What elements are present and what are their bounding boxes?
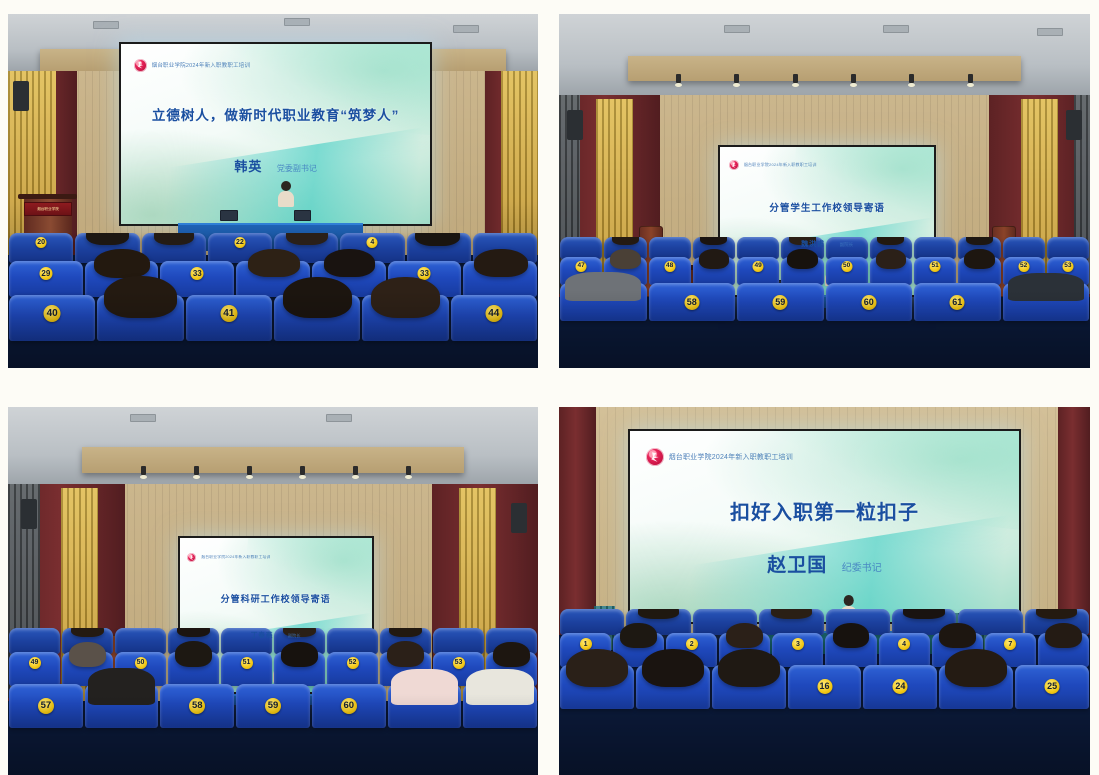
attendee-head — [389, 628, 422, 637]
seat: 60 — [826, 283, 913, 321]
seat — [560, 665, 634, 709]
attendee-head — [474, 249, 529, 278]
attendee-head — [1036, 609, 1077, 618]
seat — [1003, 237, 1045, 259]
attendee-torso — [88, 668, 156, 705]
wall-speaker-left — [567, 110, 583, 140]
ceiling-spotlight — [247, 466, 252, 475]
seat-number-tag: 52 — [347, 657, 359, 669]
seat-number-tag: 59 — [773, 295, 788, 310]
slide-byline: 韩英 党委副书记 — [121, 156, 430, 176]
attendee-head — [964, 249, 994, 269]
seat-number-tag: 53 — [453, 657, 465, 669]
attendee-head — [612, 237, 639, 245]
seat-number-tag: 49 — [29, 657, 41, 669]
seat: 58 — [160, 684, 234, 728]
slide-presenter-role: 纪委书记 — [842, 563, 882, 574]
seat — [463, 684, 537, 728]
ceiling-spotlight — [194, 466, 199, 475]
seat — [9, 628, 60, 654]
seat-row: 58 59 60 61 — [559, 283, 1090, 321]
attendee-head — [104, 276, 177, 318]
seat: 51 — [221, 652, 272, 686]
seat-number-tag: 4 — [367, 237, 378, 248]
seat — [560, 283, 647, 321]
seat — [781, 257, 823, 285]
attendee-head — [787, 249, 817, 269]
seat: 51 — [914, 257, 956, 285]
seat: 44 — [451, 295, 537, 341]
seat-number-tag: 51 — [930, 261, 941, 272]
seat-number-tag: 60 — [341, 698, 357, 714]
seat — [870, 257, 912, 285]
ceiling-vent — [724, 25, 750, 33]
slide-presenter-role: 副院长 — [288, 633, 301, 638]
seat — [142, 233, 206, 263]
wall-speaker-left — [13, 81, 29, 111]
seat: 49 — [737, 257, 779, 285]
seat — [939, 665, 1013, 709]
school-emblem-icon — [134, 59, 147, 72]
seat — [825, 633, 876, 667]
seat: 40 — [9, 295, 95, 341]
seat: 41 — [186, 295, 272, 341]
attendee-head — [638, 609, 679, 618]
seat-row: 29 33 33 — [8, 261, 538, 297]
seat: 50 — [826, 257, 868, 285]
attendee-head — [175, 641, 212, 667]
seat — [560, 237, 602, 259]
attendee-head — [726, 623, 763, 649]
seat-number-tag: 61 — [950, 295, 965, 310]
seat-number-tag: 29 — [39, 267, 52, 280]
photo-item-4[interactable]: 烟台职业学院2024年新入职教职工培训 扣好入职第一粒扣子 赵卫国 纪委书记 — [559, 407, 1090, 775]
seat-number-tag: 20 — [36, 237, 47, 248]
seat-row: 57 58 59 60 — [8, 684, 538, 728]
attendee-head — [387, 641, 424, 667]
stage-curtain-right — [501, 71, 538, 255]
presenter-head — [281, 181, 291, 191]
slide-org-text: 烟台职业学院2024年新入职教职工培训 — [669, 452, 793, 462]
slide-header: 烟台职业学院2024年新入职教职工培训 — [646, 448, 1004, 466]
auditorium-scene-3: 烟台职业学院 烟台职业学院2024年新入职教职工培训 分管科研工作校领导寄语 丁… — [8, 407, 538, 775]
wall-speaker-right — [1066, 110, 1082, 140]
ceiling-spotlight — [300, 466, 305, 475]
slide-title: 分管学生工作校领导寄语 — [720, 200, 934, 214]
attendee-head — [620, 623, 657, 648]
seat: 60 — [312, 684, 386, 728]
seat — [1038, 633, 1089, 667]
auditorium-scene-4: 烟台职业学院2024年新入职教职工培训 扣好入职第一粒扣子 赵卫国 纪委书记 — [559, 407, 1090, 775]
seat-number-tag: 16 — [817, 679, 832, 694]
seat — [274, 295, 360, 341]
podium-top — [18, 194, 77, 199]
slide-presenter-name: 魏洪甫 — [801, 241, 825, 248]
ceiling-vent — [130, 414, 156, 422]
laptop — [294, 210, 311, 221]
seat-number-tag: 53 — [1062, 261, 1073, 272]
podium-sign: 烟台职业学院 — [24, 202, 72, 217]
ceiling-spotlight — [909, 74, 914, 83]
attendee-torso — [1008, 273, 1084, 301]
ceiling-vent — [326, 414, 352, 422]
seat — [362, 295, 448, 341]
seat-number-tag: 48 — [664, 261, 675, 272]
seat-number-tag: 41 — [220, 305, 237, 322]
seat — [407, 233, 471, 263]
seat-number-tag: 52 — [1018, 261, 1029, 272]
slide-presenter-name: 韩英 — [234, 159, 262, 174]
seat-row: 16 24 25 — [559, 665, 1090, 709]
auditorium-scene-1: 烟台职业学院 烟台职业学院2024年新入职教职工培训 立德树人，做新时代职业教育… — [8, 14, 538, 368]
seat: 16 — [788, 665, 862, 709]
seat-number-tag: 50 — [135, 657, 147, 669]
slide-org-text: 烟台职业学院2024年新入职教职工培训 — [201, 555, 270, 560]
ceiling-spotlight — [676, 74, 681, 83]
seat-number-tag: 7 — [1004, 638, 1016, 650]
attendee-head — [94, 249, 150, 279]
slide-header: 烟台职业学院2024年新入职教职工培训 — [187, 553, 364, 562]
seat-number-tag: 57 — [38, 698, 54, 714]
ceiling-spotlight — [793, 74, 798, 83]
seat-number-tag: 22 — [234, 237, 245, 248]
seat: 49 — [9, 652, 60, 686]
seat: 3 — [772, 633, 823, 667]
seat-number-tag: 58 — [684, 295, 699, 310]
seat-number-tag: 44 — [485, 305, 502, 322]
attendee-head — [281, 642, 318, 667]
school-emblem-icon — [646, 448, 664, 466]
wall-speaker-left — [21, 499, 37, 529]
slide-presenter-role: 党委副书记 — [277, 164, 317, 173]
audience-seating-2: 47 48 49 50 51 52 53 58 59 — [559, 237, 1090, 368]
wall-column-left — [559, 407, 596, 635]
wall-speaker-right — [511, 503, 527, 533]
slide-org-text: 烟台职业学院2024年新入职教职工培训 — [744, 162, 817, 168]
slide-presenter-name: 赵卫国 — [767, 555, 827, 576]
seat-number-tag: 25 — [1045, 679, 1060, 694]
presenter-head — [844, 595, 855, 606]
seat — [958, 257, 1000, 285]
photo-item-2[interactable]: 烟台职业学院2024年新入职教职工培训 分管学生工作校领导寄语 魏洪甫 副院长 — [559, 14, 1090, 368]
ceiling-vent — [453, 25, 479, 33]
seat — [85, 684, 159, 728]
seat: 25 — [1015, 665, 1089, 709]
seat — [388, 684, 462, 728]
attendee-torso — [391, 669, 459, 705]
seat — [712, 665, 786, 709]
seat: 61 — [914, 283, 1001, 321]
slide-byline: 魏洪甫 副院长 — [720, 233, 934, 251]
ceiling-spotlight — [141, 466, 146, 475]
attendee-head — [1045, 623, 1082, 649]
ceiling-spotlight — [851, 74, 856, 83]
ceiling-vent — [883, 25, 909, 33]
seat-number-tag: 33 — [191, 267, 204, 280]
attendee-head — [945, 649, 1007, 688]
seat-number-tag: 24 — [893, 679, 908, 694]
seat — [560, 609, 624, 635]
seat: 57 — [9, 684, 83, 728]
seat: 29 — [9, 261, 83, 297]
seat: 24 — [863, 665, 937, 709]
seat-number-tag: 40 — [44, 305, 61, 322]
ceiling-spotlight — [406, 466, 411, 475]
ceiling-spotlight — [734, 74, 739, 83]
slide-title: 扣好入职第一粒扣子 — [630, 496, 1019, 525]
seat: 58 — [649, 283, 736, 321]
slide-presenter-name: 丁春燕 — [251, 632, 274, 639]
seat — [1003, 283, 1090, 321]
slide-title: 分管科研工作校领导寄语 — [180, 592, 372, 605]
slide-title: 立德树人，做新时代职业教育“筑梦人” — [121, 104, 430, 124]
attendee-head — [771, 609, 812, 618]
seat — [433, 628, 484, 654]
photo-item-1[interactable]: 烟台职业学院 烟台职业学院2024年新入职教职工培训 立德树人，做新时代职业教育… — [8, 14, 538, 368]
seat-number-tag: 47 — [576, 261, 587, 272]
attendee-head — [699, 249, 729, 269]
attendee-head — [69, 642, 106, 667]
seat: 20 — [9, 233, 73, 263]
attendee-head — [903, 609, 944, 618]
ceiling-spotlight — [968, 74, 973, 83]
slide-header: 烟台职业学院2024年新入职教职工培训 — [134, 59, 418, 72]
attendee-head — [966, 237, 993, 245]
slide-byline: 丁春燕 副院长 — [180, 624, 372, 642]
attendee-head — [493, 642, 530, 667]
photo-item-3[interactable]: 烟台职业学院 烟台职业学院2024年新入职教职工培训 分管科研工作校领导寄语 丁… — [8, 407, 538, 775]
seat-number-tag: 3 — [792, 638, 804, 650]
slide-presenter-role: 副院长 — [840, 242, 854, 247]
seat-number-tag: 59 — [265, 698, 281, 714]
seat-row: 1 2 3 4 7 — [559, 633, 1090, 667]
seat — [97, 295, 183, 341]
seat: 52 — [327, 652, 378, 686]
seat: 59 — [737, 283, 824, 321]
school-emblem-icon — [187, 553, 196, 562]
presentation-screen-4: 烟台职业学院2024年新入职教职工培训 扣好入职第一粒扣子 赵卫国 纪委书记 — [628, 429, 1021, 624]
seat-number-tag: 4 — [898, 638, 910, 650]
attendee-head — [642, 649, 704, 688]
audience-seating-3: 49 50 51 52 53 57 58 59 60 — [8, 628, 538, 775]
seat — [463, 261, 537, 297]
photo-grid: 烟台职业学院 烟台职业学院2024年新入职教职工培训 立德树人，做新时代职业教育… — [0, 0, 1099, 775]
wall-column-right — [1058, 407, 1090, 635]
attendee-head — [283, 277, 352, 317]
attendee-head — [833, 623, 870, 648]
seat: 48 — [649, 257, 691, 285]
seat-number-tag: 58 — [189, 698, 205, 714]
attendee-torso — [565, 272, 641, 302]
attendee-head — [718, 649, 780, 688]
attendee-torso — [466, 669, 534, 705]
audience-seating-1: 20 22 4 29 33 33 — [8, 233, 538, 368]
attendee-head — [939, 623, 976, 648]
seat — [693, 257, 735, 285]
seat — [759, 609, 823, 635]
ceiling-spotlight — [353, 466, 358, 475]
seat: 4 — [879, 633, 930, 667]
seat — [1047, 237, 1089, 259]
school-emblem-icon — [729, 160, 739, 170]
attendee-head — [286, 233, 328, 245]
seat — [649, 237, 691, 259]
seat — [115, 628, 166, 654]
slide-header: 烟台职业学院2024年新入职教职工培训 — [729, 160, 926, 170]
ceiling-vent — [284, 18, 310, 26]
seat-number-tag: 60 — [861, 295, 876, 310]
audience-seating-4: 1 2 3 4 7 16 24 — [559, 609, 1090, 775]
attendee-head — [71, 628, 104, 637]
attendee-head — [371, 277, 440, 317]
attendee-head — [154, 233, 194, 244]
seat-number-tag: 50 — [841, 261, 852, 272]
attendee-head — [566, 649, 628, 688]
presentation-screen-1: 烟台职业学院2024年新入职教职工培训 立德树人，做新时代职业教育“筑梦人” 韩… — [119, 42, 432, 226]
seat: 59 — [236, 684, 310, 728]
seat-row: 40 41 44 — [8, 295, 538, 341]
attendee-head — [248, 249, 300, 277]
ceiling-vent — [93, 21, 119, 29]
attendee-head — [324, 249, 376, 277]
seat — [274, 652, 325, 686]
seat — [168, 652, 219, 686]
attendee-head — [415, 233, 460, 246]
slide-org-text: 烟台职业学院2024年新入职教职工培训 — [152, 61, 251, 69]
ceiling-vent — [1037, 28, 1063, 36]
seat-number-tag: 49 — [753, 261, 764, 272]
attendee-head — [86, 233, 130, 245]
attendee-head — [610, 249, 640, 269]
laptop — [220, 210, 238, 221]
attendee-head — [876, 249, 906, 269]
seat-number-tag: 51 — [241, 657, 253, 669]
auditorium-scene-2: 烟台职业学院2024年新入职教职工培训 分管学生工作校领导寄语 魏洪甫 副院长 — [559, 14, 1090, 368]
slide-byline: 赵卫国 纪委书记 — [630, 550, 1019, 577]
ceiling-soffit — [628, 56, 1021, 81]
seat — [636, 665, 710, 709]
presenter-figure — [278, 191, 294, 207]
seat-number-tag: 2 — [686, 638, 698, 650]
